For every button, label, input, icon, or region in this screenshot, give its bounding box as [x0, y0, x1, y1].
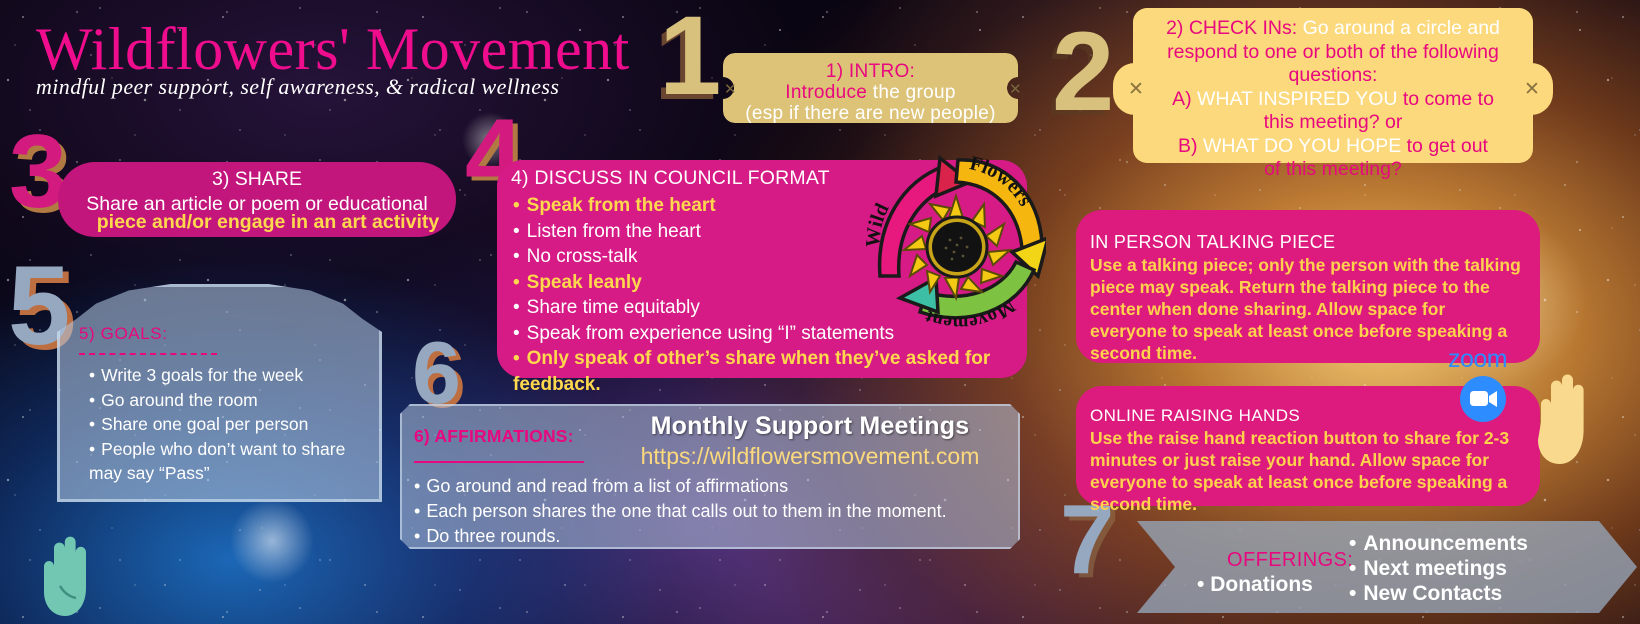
checkins-option-b-emphasis: WHAT DO YOU HOPE [1203, 135, 1401, 157]
intro-card: 1) INTRO: Introduce the group (esp if th… [723, 53, 1018, 123]
checkins-option-a-line2: this meeting? or [1264, 111, 1403, 133]
checkins-card: 2) CHECK INs: Go around a circle and res… [1133, 8, 1533, 163]
goals-bullet: Share one goal per person [89, 412, 366, 437]
affirmations-divider [414, 461, 584, 463]
zoom-branding: zoom [1448, 345, 1528, 417]
monthly-meetings-url[interactable]: https://wildflowersmovement.com [610, 443, 1010, 470]
intro-line3: (esp if there are new people) [745, 103, 996, 124]
share-line2-highlight: piece and/or engage in an art activity [58, 211, 478, 234]
checkins-left-notch-icon: ✕ [1128, 78, 1144, 101]
goals-bullet: Go around the room [89, 388, 366, 413]
council-bullet: Only speak of other’s share when they’ve… [513, 346, 1017, 397]
checkins-line2: respond to one or both of the following [1167, 41, 1499, 63]
intro-line2-rest: the group [873, 82, 956, 103]
checkins-right-notch-icon: ✕ [1524, 78, 1540, 101]
checkins-line3: questions: [1289, 64, 1378, 86]
goals-bullet: People who don’t want to share may say “… [89, 437, 366, 486]
talking-piece-heading: IN PERSON TALKING PIECE [1076, 210, 1540, 253]
page-tagline: mindful peer support, self awareness, & … [36, 74, 630, 100]
goals-divider [79, 353, 217, 355]
logo-sunflower [904, 196, 1010, 298]
page-title: Wildflowers' Movement [36, 18, 630, 80]
wildflowers-movement-logo: Wild Flowers Movement [866, 152, 1046, 332]
checkins-label: 2) CHECK INs: [1166, 17, 1297, 39]
right-notch-icon: ✕ [1009, 80, 1022, 98]
poster-title-block: Wildflowers' Movement mindful peer suppo… [36, 18, 630, 100]
checkins-option-a-label: A) [1172, 88, 1192, 110]
offerings-banner: OFFERINGS: • Donations Announcements Nex… [1137, 521, 1637, 613]
goals-heading: 5) GOALS: [79, 324, 366, 344]
checkins-option-b-rest: to get out [1407, 135, 1488, 157]
offerings-list: Announcements Next meetings New Contacts [1349, 531, 1528, 606]
intro-line2-emphasis: Introduce [785, 82, 867, 103]
talking-piece-card: IN PERSON TALKING PIECE Use a talking pi… [1076, 210, 1540, 363]
affirmations-bullet-list: Go around and read from a list of affirm… [414, 474, 947, 549]
checkins-option-b-line2: of this meeting? [1264, 158, 1402, 180]
offerings-donations: • Donations [1197, 573, 1313, 597]
poster-canvas: Wildflowers' Movement mindful peer suppo… [0, 0, 1640, 624]
checkins-line1: Go around a circle and [1303, 17, 1500, 39]
offerings-heading: OFFERINGS: [1227, 549, 1353, 572]
affirmations-bullet: Do three rounds. [414, 524, 947, 549]
goals-bullet: Write 3 goals for the week [89, 363, 366, 388]
open-hand-icon-teal [32, 526, 104, 618]
offerings-donations-label: Donations [1210, 573, 1313, 596]
offerings-item: New Contacts [1349, 581, 1528, 606]
affirmations-bullet: Go around and read from a list of affirm… [414, 474, 947, 499]
offerings-item: Announcements [1349, 531, 1528, 556]
step-number-1: 1 [659, 8, 721, 103]
step-number-6: 6 [412, 336, 461, 411]
share-heading: 3) SHARE [58, 162, 456, 192]
step-number-2: 2 [1052, 24, 1114, 119]
zoom-video-icon [1460, 376, 1506, 422]
checkins-option-a-emphasis: WHAT INSPIRED YOU [1197, 88, 1397, 110]
zoom-wordmark: zoom [1448, 345, 1528, 374]
goals-card: 5) GOALS: Write 3 goals for the week Go … [57, 284, 382, 502]
checkins-option-b-label: B) [1178, 135, 1198, 157]
goals-bullet-list: Write 3 goals for the week Go around the… [79, 363, 366, 486]
left-notch-icon: ✕ [724, 80, 737, 98]
checkins-option-a-rest: to come to [1403, 88, 1494, 110]
monthly-meetings-title: Monthly Support Meetings [610, 412, 1010, 441]
raised-hand-icon-tan [1529, 370, 1599, 466]
affirmations-heading: 6) AFFIRMATIONS: [414, 426, 584, 447]
affirmations-card: 6) AFFIRMATIONS: Monthly Support Meeting… [400, 404, 1020, 549]
offerings-item: Next meetings [1349, 556, 1528, 581]
affirmations-bullet: Each person shares the one that calls ou… [414, 499, 947, 524]
offerings-donations-bullet: • [1197, 573, 1204, 596]
intro-heading: 1) INTRO: [826, 61, 915, 82]
online-hands-body: Use the raise hand reaction button to sh… [1076, 426, 1540, 515]
